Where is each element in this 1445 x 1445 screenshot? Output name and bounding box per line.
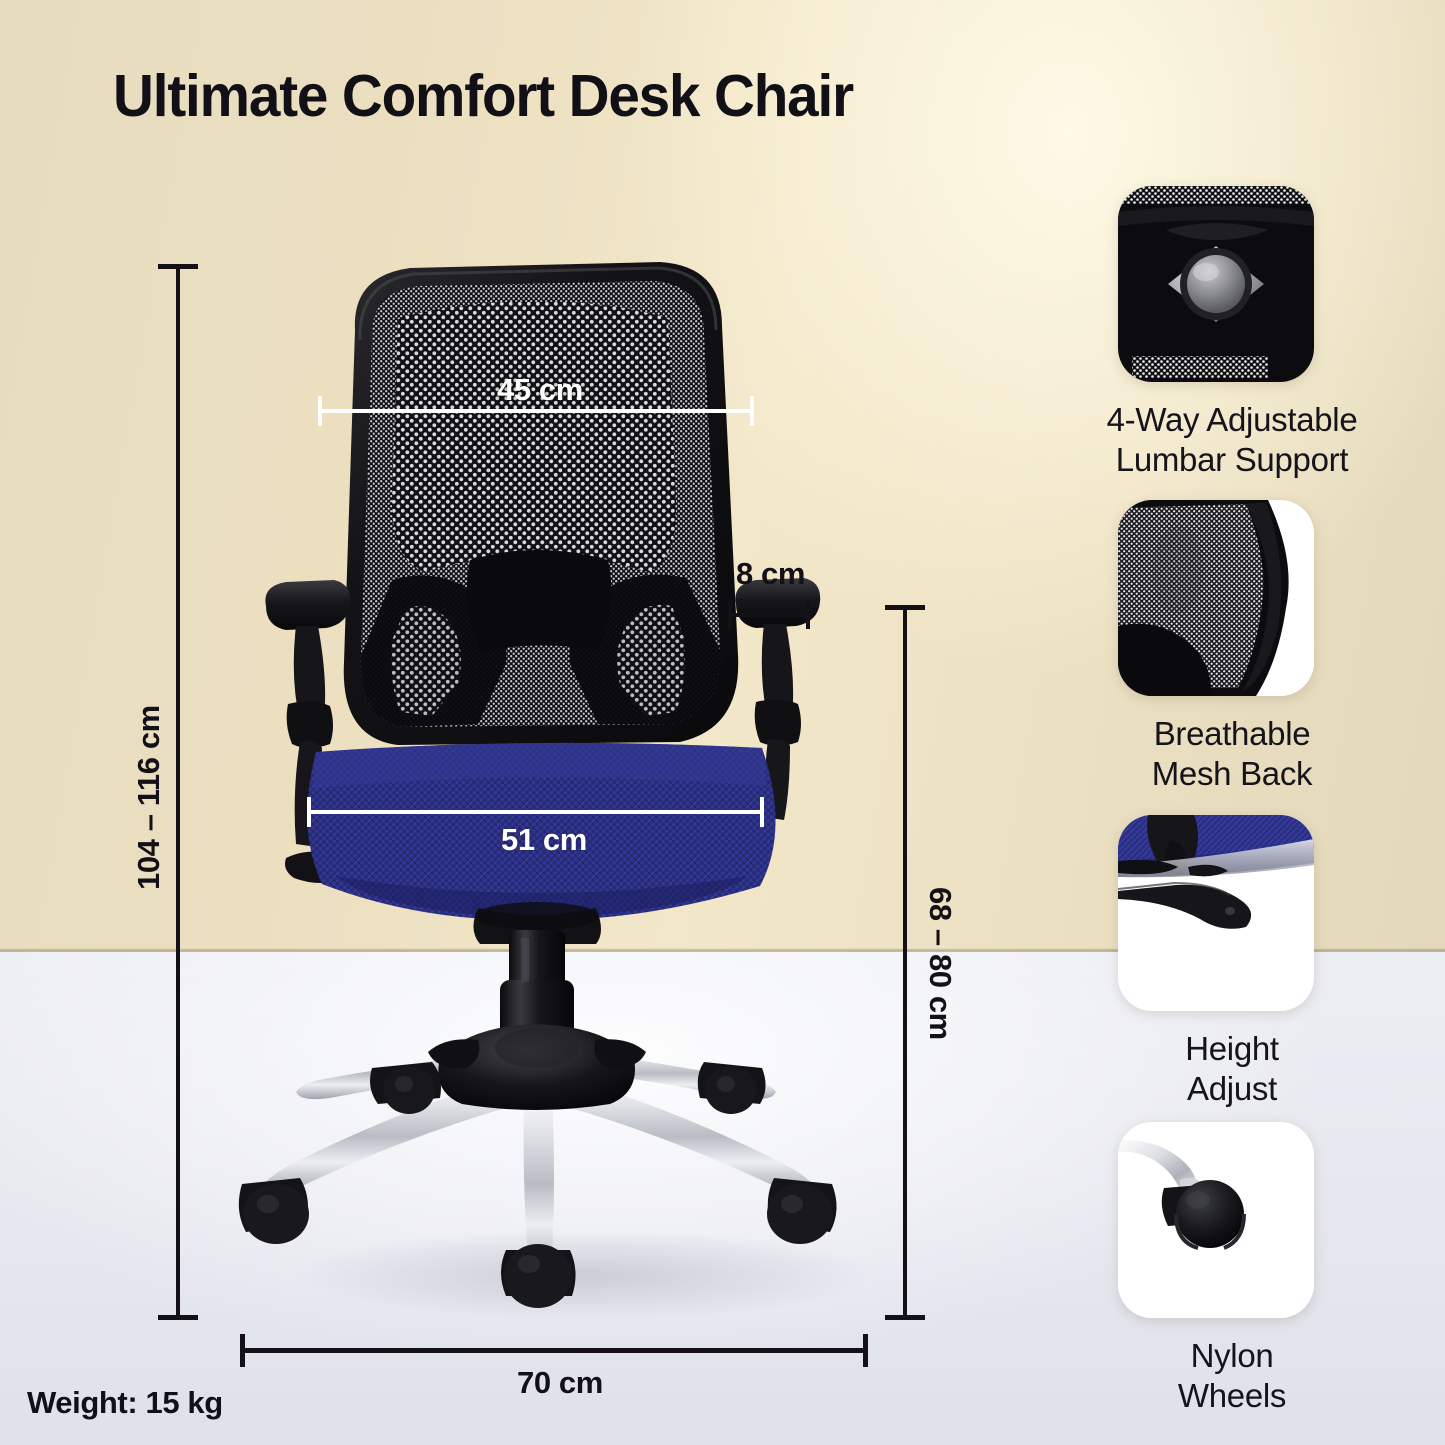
dimension-label-backrest-width: 45 cm [497,372,583,408]
feature-card-wheels[interactable]: Nylon Wheels [1082,1122,1382,1417]
dimline-51cm [307,810,764,814]
feature-label-lumbar-line2: Lumbar Support [1082,440,1382,480]
dimcap-total-height-bottom [158,1315,198,1320]
caster-front-right [767,1178,837,1244]
dimcap-total-height-top [158,264,198,269]
dimension-label-armrest-width: 8 cm [736,556,805,592]
dimcap-45cm-right [750,396,754,426]
feature-label-mesh: Breathable Mesh Back [1082,714,1382,795]
chair-backrest [344,262,739,745]
feature-label-height-line2: Adjust [1082,1069,1382,1109]
caster-wheel-icon [1118,1122,1314,1318]
dimline-seat-height [903,605,907,1320]
dimension-label-base-width: 70 cm [517,1365,603,1401]
dimcap-seat-height-top [885,605,925,610]
caster-front-center [501,1244,576,1308]
lumbar-knob-icon [1118,186,1314,382]
dimcap-51cm-left [307,797,311,827]
dimcap-8cm-right [806,600,810,629]
feature-label-height-line1: Height [1082,1029,1382,1069]
weight-label: Weight: 15 kg [27,1385,223,1421]
feature-label-mesh-line2: Mesh Back [1082,754,1382,794]
dimcap-70cm-right [863,1334,868,1367]
caster-front-left [239,1178,309,1244]
dimline-8cm [728,613,810,617]
feature-card-mesh[interactable]: Breathable Mesh Back [1082,500,1382,795]
dimcap-8cm-left [728,600,732,629]
dimension-label-seat-height: 68 – 80 cm [922,887,958,1040]
dimcap-45cm-left [318,396,322,426]
dimcap-70cm-left [240,1334,245,1367]
feature-label-lumbar: 4-Way Adjustable Lumbar Support [1082,400,1382,481]
feature-label-lumbar-line1: 4-Way Adjustable [1082,400,1382,440]
feature-card-lumbar[interactable]: 4-Way Adjustable Lumbar Support [1082,186,1382,481]
dimline-45cm [318,409,754,413]
dimcap-seat-height-bottom [885,1315,925,1320]
chair-base [258,1024,818,1278]
caster-back-right [698,1062,766,1114]
feature-label-wheels-line1: Nylon [1082,1336,1382,1376]
feature-label-wheels-line2: Wheels [1082,1376,1382,1416]
dimension-label-seat-width: 51 cm [501,822,587,858]
dimcap-51cm-right [760,797,764,827]
dimline-total-height [176,264,180,1320]
feature-label-wheels: Nylon Wheels [1082,1336,1382,1417]
feature-label-height: Height Adjust [1082,1029,1382,1110]
dimension-label-total-height: 104 – 116 cm [131,705,167,890]
feature-label-mesh-line1: Breathable [1082,714,1382,754]
feature-card-height[interactable]: Height Adjust [1082,815,1382,1110]
height-lever-icon [1118,815,1314,1011]
dimline-70cm [240,1348,868,1353]
mesh-back-icon [1118,500,1314,696]
